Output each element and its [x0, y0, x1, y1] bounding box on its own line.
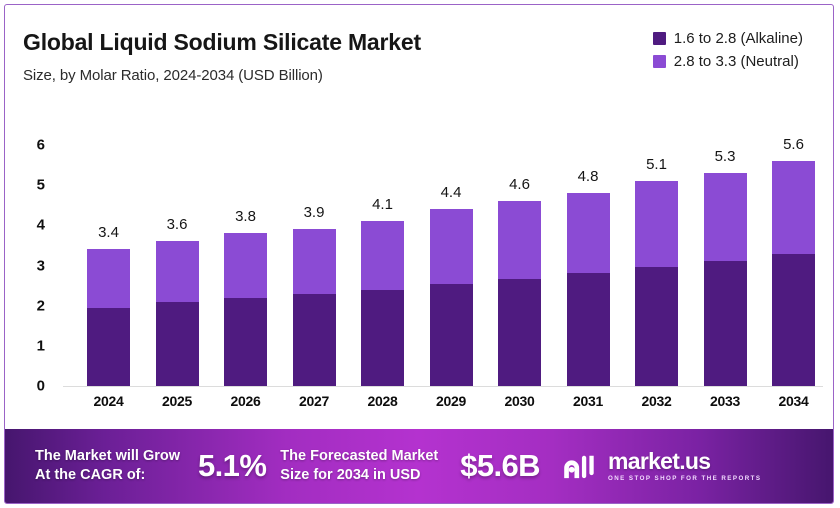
bar-segment-neutral[interactable]: [704, 173, 747, 261]
footer-cagr-value: 5.1%: [198, 448, 266, 484]
bar-group-2033[interactable]: 5.3: [704, 105, 747, 386]
page-subtitle: Size, by Molar Ratio, 2024-2034 (USD Bil…: [23, 67, 323, 84]
bar-segment-alkaline[interactable]: [224, 298, 267, 386]
x-axis-label-2029: 2029: [430, 393, 473, 409]
bar-segment-alkaline[interactable]: [635, 267, 678, 386]
bar-value-label-2032: 5.1: [646, 156, 667, 173]
bar-group-2025[interactable]: 3.6: [156, 105, 199, 386]
bar-stack: [87, 249, 130, 386]
bar-value-label-2034: 5.6: [783, 136, 804, 153]
bar-group-2030[interactable]: 4.6: [498, 105, 541, 386]
bar-segment-alkaline[interactable]: [87, 308, 130, 386]
x-axis-baseline: [63, 386, 823, 387]
y-axis-tick-2: 2: [37, 297, 45, 314]
x-axis-label-2034: 2034: [772, 393, 815, 409]
bar-segment-alkaline[interactable]: [430, 284, 473, 386]
market-us-logo-icon: [562, 452, 600, 480]
brand-tagline: ONE STOP SHOP FOR THE REPORTS: [608, 476, 761, 482]
bar-value-label-2031: 4.8: [578, 168, 599, 185]
bar-segment-alkaline[interactable]: [361, 290, 404, 386]
bar-stack: [293, 229, 336, 386]
bar-stack: [567, 193, 610, 386]
y-axis-tick-6: 6: [37, 137, 45, 154]
footer-cagr-line2: At the CAGR of:: [35, 467, 145, 483]
footer-forecast-line1: The Forecasted Market: [280, 448, 438, 464]
bar-value-label-2024: 3.4: [98, 224, 119, 241]
legend-item-alkaline: 1.6 to 2.8 (Alkaline): [653, 30, 803, 47]
x-axis-label-2032: 2032: [635, 393, 678, 409]
footer-cagr-line1: The Market will Grow: [35, 448, 180, 464]
bar-series-container: 3.43.63.83.94.14.44.64.85.15.35.6: [67, 105, 821, 386]
bar-value-label-2028: 4.1: [372, 196, 393, 213]
x-axis-label-2024: 2024: [87, 393, 130, 409]
y-axis-tick-3: 3: [37, 257, 45, 274]
legend-item-neutral: 2.8 to 3.3 (Neutral): [653, 53, 803, 70]
bar-group-2028[interactable]: 4.1: [361, 105, 404, 386]
chart-legend: 1.6 to 2.8 (Alkaline) 2.8 to 3.3 (Neutra…: [653, 30, 803, 70]
bar-segment-neutral[interactable]: [635, 181, 678, 267]
x-axis-label-2033: 2033: [704, 393, 747, 409]
bar-value-label-2029: 4.4: [441, 184, 462, 201]
footer-cagr-caption: The Market will Grow At the CAGR of:: [35, 447, 180, 485]
bar-stack: [156, 241, 199, 386]
legend-label-alkaline: 1.6 to 2.8 (Alkaline): [674, 30, 803, 47]
bar-segment-alkaline[interactable]: [704, 261, 747, 386]
bar-segment-neutral[interactable]: [567, 193, 610, 273]
x-axis-label-2028: 2028: [361, 393, 404, 409]
bar-group-2027[interactable]: 3.9: [293, 105, 336, 386]
y-axis-tick-1: 1: [37, 337, 45, 354]
bar-segment-neutral[interactable]: [293, 229, 336, 294]
bar-group-2032[interactable]: 5.1: [635, 105, 678, 386]
bar-stack: [361, 221, 404, 386]
bar-value-label-2033: 5.3: [715, 148, 736, 165]
footer-banner: The Market will Grow At the CAGR of: 5.1…: [5, 429, 833, 503]
footer-forecast-line2: Size for 2034 in USD: [280, 467, 420, 483]
bar-segment-alkaline[interactable]: [156, 302, 199, 386]
x-axis-label-2026: 2026: [224, 393, 267, 409]
bar-value-label-2030: 4.6: [509, 176, 530, 193]
bar-segment-neutral[interactable]: [498, 201, 541, 279]
bar-stack: [635, 181, 678, 386]
y-axis-tick-5: 5: [37, 177, 45, 194]
bar-value-label-2025: 3.6: [167, 216, 188, 233]
bar-value-label-2027: 3.9: [304, 204, 325, 221]
bar-segment-neutral[interactable]: [361, 221, 404, 289]
x-axis-label-2030: 2030: [498, 393, 541, 409]
y-axis-tick-0: 0: [37, 378, 45, 395]
brand-name: market.us: [608, 450, 761, 473]
bar-value-label-2026: 3.8: [235, 208, 256, 225]
bar-group-2034[interactable]: 5.6: [772, 105, 815, 386]
y-axis-tick-4: 4: [37, 217, 45, 234]
chart-plot-area: 0123456 3.43.63.83.94.14.44.64.85.15.35.…: [5, 105, 834, 425]
bar-segment-neutral[interactable]: [224, 233, 267, 298]
chart-header: Global Liquid Sodium Silicate Market Siz…: [5, 5, 833, 105]
chart-card: Global Liquid Sodium Silicate Market Siz…: [4, 4, 834, 504]
bar-group-2026[interactable]: 3.8: [224, 105, 267, 386]
bar-group-2029[interactable]: 4.4: [430, 105, 473, 386]
y-axis: 0123456: [5, 105, 67, 380]
bar-segment-neutral[interactable]: [430, 209, 473, 283]
bar-segment-neutral[interactable]: [156, 241, 199, 302]
bar-segment-alkaline[interactable]: [293, 294, 336, 386]
square-swatch-icon: [653, 32, 666, 45]
bar-stack: [498, 201, 541, 386]
x-axis-label-2025: 2025: [156, 393, 199, 409]
brand-logo[interactable]: market.us ONE STOP SHOP FOR THE REPORTS: [562, 450, 761, 482]
bar-group-2031[interactable]: 4.8: [567, 105, 610, 386]
bar-segment-alkaline[interactable]: [498, 279, 541, 386]
bar-stack: [430, 209, 473, 386]
footer-forecast-caption: The Forecasted Market Size for 2034 in U…: [280, 447, 438, 485]
bar-segment-alkaline[interactable]: [567, 273, 610, 386]
bar-stack: [772, 161, 815, 386]
x-axis-label-2027: 2027: [293, 393, 336, 409]
footer-forecast-value: $5.6B: [460, 448, 540, 484]
bar-stack: [224, 233, 267, 386]
square-swatch-icon: [653, 55, 666, 68]
bar-segment-alkaline[interactable]: [772, 254, 815, 386]
legend-label-neutral: 2.8 to 3.3 (Neutral): [674, 53, 799, 70]
x-axis-labels: 2024202520262027202820292030203120322033…: [67, 393, 821, 423]
x-axis-label-2031: 2031: [567, 393, 610, 409]
bar-segment-neutral[interactable]: [772, 161, 815, 254]
bar-stack: [704, 173, 747, 386]
bar-segment-neutral[interactable]: [87, 249, 130, 307]
bar-group-2024[interactable]: 3.4: [87, 105, 130, 386]
page-title: Global Liquid Sodium Silicate Market: [23, 29, 421, 56]
